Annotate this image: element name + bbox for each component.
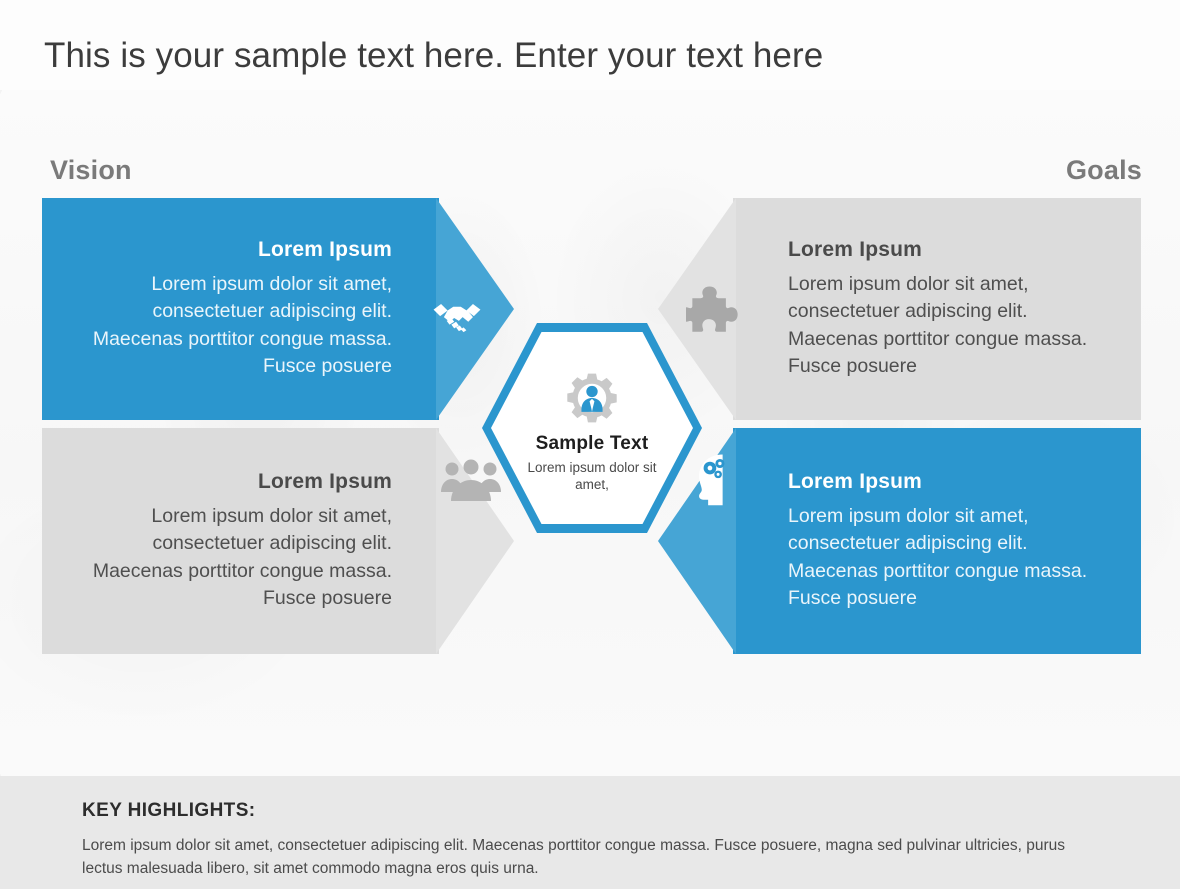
column-label-goals: Goals [1066, 155, 1142, 186]
gear-person-icon [566, 372, 618, 424]
panel-title: Lorem Ipsum [82, 470, 392, 494]
panel-title: Lorem Ipsum [788, 238, 1105, 262]
key-highlights-footer: KEY HIGHLIGHTS: Lorem ipsum dolor sit am… [0, 776, 1180, 889]
panel-title: Lorem Ipsum [82, 238, 392, 262]
center-hexagon[interactable]: Sample Text Lorem ipsum dolor sit amet, [482, 323, 702, 533]
footer-body: Lorem ipsum dolor sit amet, consectetuer… [82, 834, 1100, 880]
slide-canvas: This is your sample text here. Enter you… [0, 0, 1180, 889]
hexagon-title: Sample Text [536, 433, 649, 455]
panel-text: Lorem ipsum dolor sit amet, consectetuer… [82, 271, 392, 381]
panel-title: Lorem Ipsum [788, 470, 1105, 494]
panel-text: Lorem ipsum dolor sit amet, consectetuer… [82, 503, 392, 613]
page-title: This is your sample text here. Enter you… [44, 36, 823, 76]
hexagon-subtitle: Lorem ipsum dolor sit amet, [517, 459, 667, 493]
panel-text: Lorem ipsum dolor sit amet, consectetuer… [788, 271, 1105, 381]
handshake-icon [424, 285, 490, 351]
column-label-vision: Vision [50, 155, 132, 186]
footer-heading: KEY HIGHLIGHTS: [82, 800, 1100, 822]
panel-text: Lorem ipsum dolor sit amet, consectetuer… [788, 503, 1105, 613]
hexagon-content: Sample Text Lorem ipsum dolor sit amet, [482, 323, 702, 533]
